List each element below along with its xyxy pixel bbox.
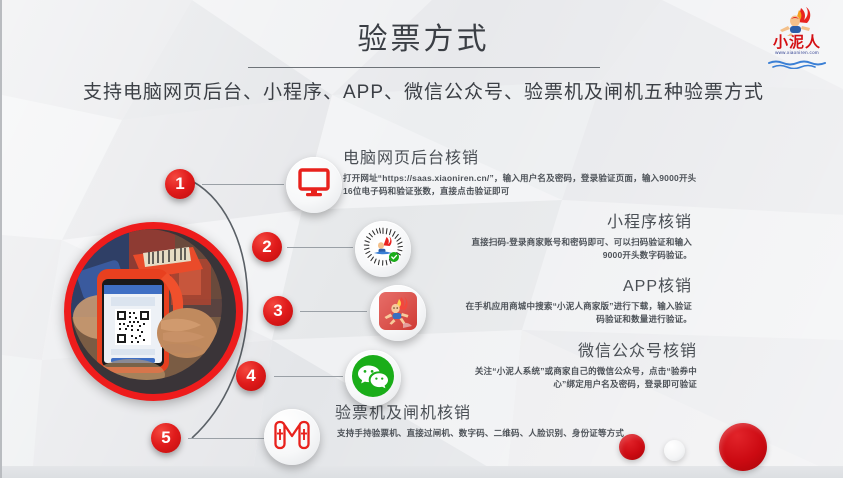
icon-circle-3[interactable] [370,285,426,341]
step-number-1-label: 1 [175,174,184,194]
step-block-1: 电脑网页后台核销 打开网址“https://saas.xiaoniren.cn/… [343,150,698,198]
miniprogram-qrcode-icon [362,226,404,273]
connector-line-5 [188,438,264,439]
brand-logo: 小泥人 www.xiaoniren.com [761,6,833,64]
page-subtitle: 支持电脑网页后台、小程序、APP、微信公众号、验票机及闸机五种验票方式 [2,77,843,104]
title-divider [248,67,600,68]
step-desc-1: 打开网址“https://saas.xiaoniren.cn/”，输入用户名及密… [343,172,698,198]
step-number-5[interactable]: 5 [151,423,181,453]
mascot-icon [761,6,833,36]
page-title: 验票方式 [2,22,843,58]
bottom-band [2,466,843,478]
icon-circle-2[interactable] [355,221,411,277]
ticket-scanner-photo [64,222,243,401]
wave-icon [761,56,833,74]
step-title-4: 微信公众号核销 [342,343,697,361]
connector-line-4 [274,376,343,377]
step-title-5: 验票机及闸机核销 [335,405,697,423]
wechat-icon [351,354,395,403]
decorative-circle-large-red [719,423,767,471]
monitor-icon [298,168,330,203]
app-mascot-icon [379,292,417,335]
connector-line-1 [202,184,284,185]
logo-wordmark: 小泥人 [761,36,833,49]
step-desc-5: 支持手持验票机、直接过闸机、数字码、二维码、人脸识别、身份证等方式 [337,427,637,440]
icon-circle-5[interactable] [264,409,320,465]
step-number-5-label: 5 [161,428,170,448]
icon-circle-4[interactable] [345,350,401,406]
step-number-2[interactable]: 2 [252,232,282,262]
slide-root: 验票方式 支持电脑网页后台、小程序、APP、微信公众号、验票机及闸机五种验票方式… [0,0,843,478]
decorative-circle-white [664,440,685,461]
icon-circle-1[interactable] [286,157,342,213]
step-number-3-label: 3 [273,301,282,321]
step-title-1: 电脑网页后台核销 [343,150,698,168]
turnstile-gate-icon [274,420,310,455]
step-number-4-label: 4 [246,366,255,386]
step-block-5: 验票机及闸机核销 支持手持验票机、直接过闸机、数字码、二维码、人脸识别、身份证等… [337,405,697,440]
step-number-2-label: 2 [262,237,271,257]
step-number-4[interactable]: 4 [236,361,266,391]
step-number-3[interactable]: 3 [263,296,293,326]
step-number-1[interactable]: 1 [165,169,195,199]
logo-url: www.xiaoniren.com [761,50,833,55]
header: 验票方式 支持电脑网页后台、小程序、APP、微信公众号、验票机及闸机五种验票方式 [2,22,843,104]
